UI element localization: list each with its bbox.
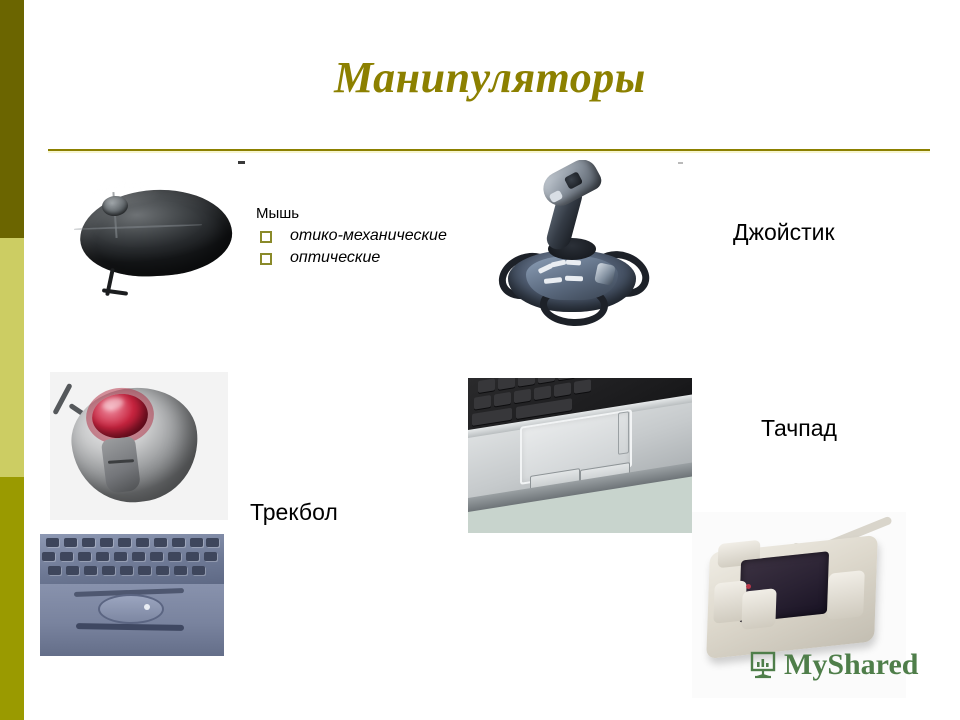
title-underline-rule [48, 149, 930, 151]
laptop-key [82, 538, 95, 547]
laptop-key [66, 566, 79, 575]
list-item-label: отико-механические [290, 227, 447, 244]
sidebar-segment-middle [0, 238, 24, 477]
label-joystick: Джойстик [733, 218, 835, 246]
laptop-key [534, 385, 551, 400]
joystick-image [492, 160, 652, 330]
mouse-bullet-list: отико-механические оптические [256, 226, 456, 268]
label-touchpad: Тачпад [761, 414, 837, 442]
slide-title: Манипуляторы [48, 52, 932, 104]
laptop-key [514, 389, 531, 404]
laptop-key [138, 566, 151, 575]
laptop-key [64, 538, 77, 547]
laptop-key [574, 379, 591, 394]
mouse-highlight [88, 182, 160, 204]
image-anchor-artifact [238, 161, 245, 164]
myshared-logo-icon [748, 650, 778, 680]
list-item: оптические [256, 248, 456, 268]
myshared-watermark-text: MyShared [784, 650, 918, 680]
laptop-keyboard-area [40, 534, 224, 586]
laptop-key [190, 538, 203, 547]
joystick-base-button [566, 259, 581, 265]
laptop-key [100, 538, 113, 547]
laptop-key [474, 395, 491, 410]
laptop-touchpad-image [468, 378, 692, 533]
laptop-key [120, 566, 133, 575]
laptop-key [60, 552, 73, 561]
joystick-base-button [565, 276, 583, 282]
external-touchpad-second-button [741, 588, 776, 630]
trackball-image [50, 372, 228, 520]
laptop-key [132, 552, 145, 561]
laptop-key [494, 392, 511, 407]
laptop-key [96, 552, 109, 561]
trackpoint-nub [144, 604, 150, 610]
presentation-slide: Манипуляторы Мышь отико-механические опт… [0, 0, 960, 720]
laptop-key [204, 552, 217, 561]
laptop-key [46, 538, 59, 547]
laptop-key [186, 552, 199, 561]
trackball-cable [52, 383, 72, 415]
laptop-key [554, 382, 571, 397]
laptop-key [206, 538, 219, 547]
trackpoint-pad [98, 594, 164, 624]
laptop-key [518, 378, 535, 387]
trackball-thumb-rest [101, 436, 141, 494]
laptop-key [478, 378, 495, 393]
laptop-key [558, 378, 575, 380]
external-touchpad-right-button [827, 570, 865, 620]
label-trackball: Трекбол [250, 498, 338, 526]
list-item: отико-механические [256, 226, 456, 246]
external-touchpad-led [746, 584, 751, 589]
laptop-key [42, 552, 55, 561]
laptop-key [498, 378, 515, 390]
laptop-key [78, 552, 91, 561]
myshared-watermark: MyShared [748, 650, 918, 680]
laptop-key [150, 552, 163, 561]
laptop-key [174, 566, 187, 575]
laptop-key [154, 538, 167, 547]
list-item-label: оптические [290, 249, 380, 266]
laptop-trackpoint-image [40, 534, 224, 656]
square-bullet-icon [260, 231, 272, 243]
laptop-key [48, 566, 61, 575]
sidebar-segment-top [0, 0, 24, 238]
square-bullet-icon [260, 253, 272, 265]
mouse-text-block: Мышь отико-механические оптические [256, 204, 456, 270]
laptop-key [156, 566, 169, 575]
laptop-key [136, 538, 149, 547]
laptop-key [102, 566, 115, 575]
image-anchor-artifact [678, 162, 683, 164]
laptop-key [172, 538, 185, 547]
laptop-key [192, 566, 205, 575]
mouse-heading: Мышь [256, 204, 456, 224]
sidebar-segment-bottom [0, 477, 24, 720]
laptop-key [538, 378, 555, 384]
slide-sidebar-decoration [0, 0, 24, 720]
laptop-key [114, 552, 127, 561]
laptop-key [168, 552, 181, 561]
laptop-key [84, 566, 97, 575]
touchpad-scroll-zone [618, 411, 629, 455]
laptop-key [118, 538, 131, 547]
mouse-image [62, 172, 252, 306]
